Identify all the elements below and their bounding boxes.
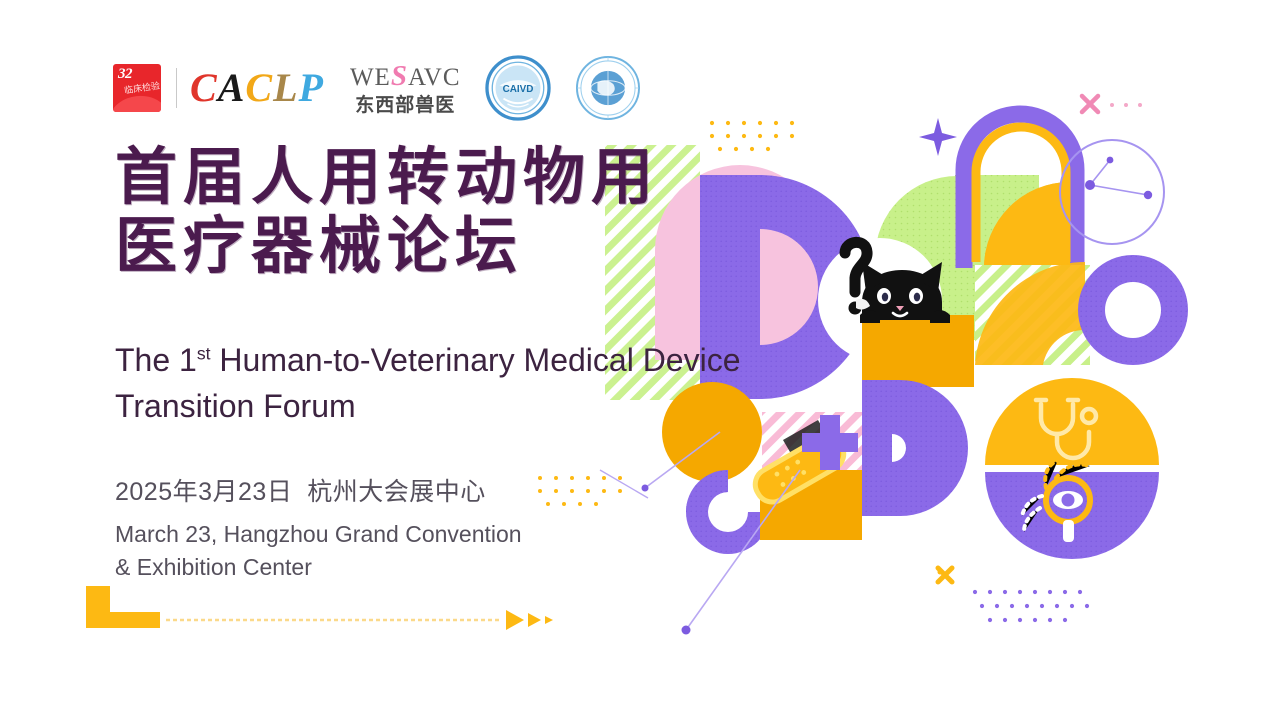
title-chinese-line-2: 医疗器械论坛 — [115, 212, 523, 281]
caclp-letter-3: C — [245, 65, 273, 110]
deco-orange-card-cat — [862, 315, 974, 387]
deco-pink-dome — [655, 165, 825, 360]
event-date-english-line-2: & Exhibition Center — [115, 554, 312, 580]
deco-orange-dot-grid-top — [710, 121, 794, 151]
caclp-badge-number: 32 — [118, 66, 132, 83]
deco-orange-x-bottom — [938, 568, 952, 582]
promotional-banner: 32 临床检验 CACLP WESAVC 东西部兽医 CAIVD — [0, 0, 1280, 720]
globe-seal-icon — [575, 55, 641, 121]
deco-orange-square-bottom — [760, 470, 862, 540]
caclp-badge-swoosh — [113, 93, 161, 112]
wesavc-logo: WESAVC 东西部兽医 — [350, 62, 461, 115]
stethoscope-icon — [1036, 400, 1096, 458]
caivd-seal-icon: CAIVD — [485, 55, 551, 121]
deco-purple-donut — [1078, 255, 1188, 365]
svg-text:CAIVD: CAIVD — [502, 84, 533, 95]
event-date-chinese: 2025年3月23日 杭州大会展中心 — [115, 472, 486, 508]
wesavc-latin: WESAVC — [350, 62, 461, 91]
deco-white-carve — [818, 238, 942, 362]
deco-purple-outline-arch — [964, 114, 1076, 268]
deco-node-circle — [1060, 140, 1164, 244]
event-date-english-line-1: March 23, Hangzhou Grand Convention — [115, 521, 522, 547]
caclp-letter-2: A — [218, 65, 246, 110]
title-chinese-line-1: 首届人用转动物用 — [115, 143, 659, 212]
title-english-prefix: The 1 — [115, 342, 197, 378]
caclp-badge-icon: 32 临床检验 — [113, 64, 161, 112]
page-title-chinese: 首届人用转动物用医疗器械论坛 — [115, 143, 659, 282]
deco-purple-d-right — [862, 380, 968, 516]
deco-split-circle-icons — [985, 378, 1159, 559]
corner-bracket-icon — [86, 586, 160, 628]
caclp-wordmark: CACLP — [190, 68, 324, 108]
deco-sparkle-star — [919, 118, 957, 156]
wesavc-latin-left: WE — [350, 64, 391, 91]
deco-orange-arch — [976, 127, 1070, 268]
partner-logo-row: 32 临床检验 CACLP WESAVC 东西部兽医 CAIVD — [113, 55, 641, 121]
title-english-ordinal: st — [197, 343, 211, 363]
caclp-letter-1: C — [190, 65, 218, 110]
deco-pink-x-mark — [1082, 96, 1098, 112]
cat-icon — [845, 242, 950, 323]
page-title-english: The 1st Human-to-Veterinary Medical Devi… — [115, 337, 835, 430]
caclp-letter-4: L — [273, 65, 298, 110]
deco-orange-dot-grid-date — [538, 476, 622, 506]
event-date-english: March 23, Hangzhou Grand Convention& Exh… — [115, 518, 522, 583]
deco-pink-dots-top — [1110, 103, 1142, 107]
deco-green-dome — [875, 175, 1039, 340]
magnifying-glass-eye-icon — [1022, 460, 1090, 542]
deco-purple-dot-grid-bottom — [973, 590, 1089, 622]
deco-purple-c-left — [686, 470, 770, 554]
deco-connector-lines — [642, 432, 801, 635]
caclp-letter-5: P — [299, 65, 324, 110]
logo-divider — [176, 68, 177, 108]
triple-arrow-right-icon — [506, 610, 553, 630]
deco-green-stripes-right — [975, 262, 1090, 365]
wesavc-latin-right: AVC — [408, 64, 461, 91]
wesavc-chinese: 东西部兽医 — [350, 96, 461, 115]
wesavc-stethoscope-s-icon: S — [391, 60, 408, 92]
deco-date-connector — [600, 470, 648, 498]
